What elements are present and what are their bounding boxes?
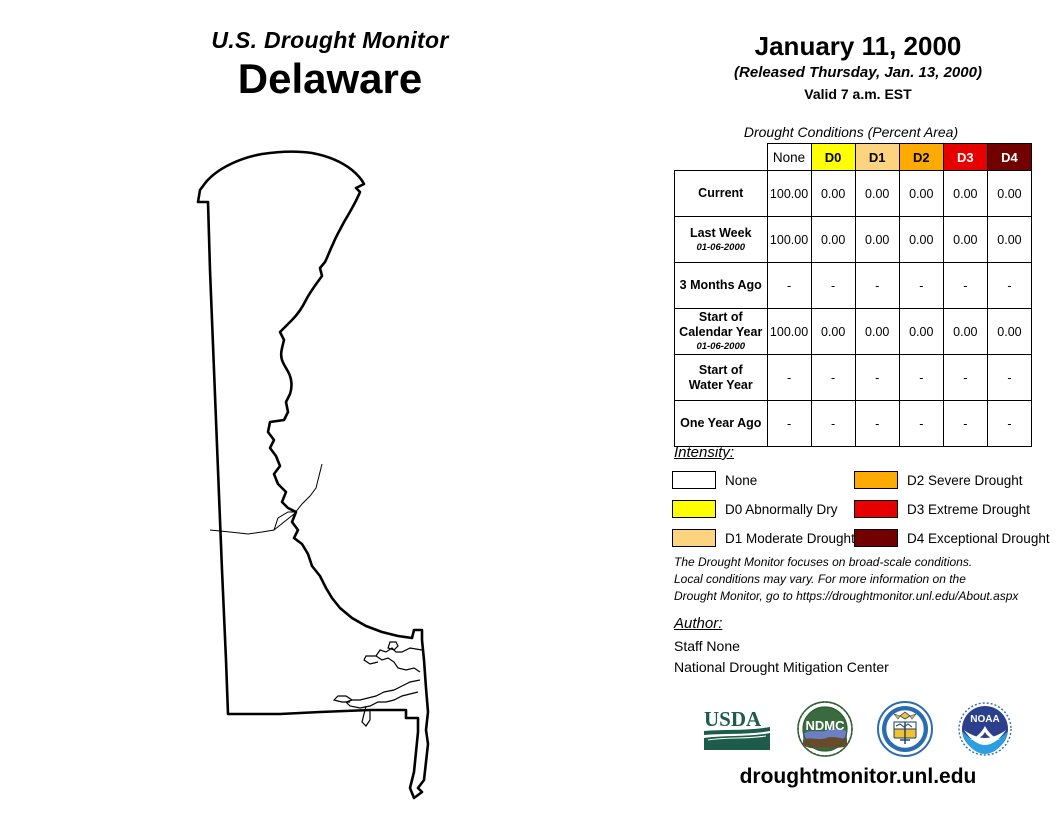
cell-one-year-d3: -: [943, 401, 987, 447]
site-url[interactable]: droughtmonitor.unl.edu: [660, 765, 1056, 789]
legend-label-d1: D1 Moderate Drought: [725, 531, 855, 546]
info-panel: January 11, 2000 (Released Thursday, Jan…: [660, 0, 1056, 816]
disclaimer-line-1: The Drought Monitor focuses on broad-sca…: [674, 554, 1054, 571]
cell-cal-year-d1: 0.00: [855, 309, 899, 355]
row-label-line2: Calendar Year: [679, 325, 762, 339]
intensity-heading: Intensity:: [674, 444, 734, 461]
legend-item-d0: D0 Abnormally Dry: [672, 497, 855, 521]
swatch-none-icon: [672, 471, 716, 489]
cell-water-year-d1: -: [855, 355, 899, 401]
cell-last-week-d2: 0.00: [899, 217, 943, 263]
delaware-map-svg: [170, 140, 500, 800]
release-date: (Released Thursday, Jan. 13, 2000): [660, 62, 1056, 85]
cell-3-months-d4: -: [987, 263, 1031, 309]
legend-item-d4: D4 Exceptional Drought: [854, 526, 1050, 550]
cell-3-months-d3: -: [943, 263, 987, 309]
legend-item-d2: D2 Severe Drought: [854, 468, 1050, 492]
legend-label-d2: D2 Severe Drought: [907, 473, 1023, 488]
cell-current-d2: 0.00: [899, 171, 943, 217]
swatch-d1-icon: [672, 529, 716, 547]
map-panel: U.S. Drought Monitor Delaware: [0, 0, 660, 816]
cell-cal-year-none: 100.00: [767, 309, 811, 355]
cell-one-year-d2: -: [899, 401, 943, 447]
drought-conditions-table: None D0 D1 D2 D3 D4 Current 100.00 0.00 …: [674, 143, 1032, 447]
row-label-date: 01-06-2000: [675, 341, 767, 352]
cell-cal-year-d2: 0.00: [899, 309, 943, 355]
swatch-d0-icon: [672, 500, 716, 518]
row-label-start-calendar-year: Start of Calendar Year 01-06-2000: [675, 309, 768, 355]
logo-row: USDA NDMC: [660, 694, 1056, 764]
cell-cal-year-d3: 0.00: [943, 309, 987, 355]
row-label-current: Current: [675, 171, 768, 217]
table-row: One Year Ago - - - - - -: [675, 401, 1032, 447]
header-cell-d4: D4: [987, 144, 1031, 171]
disclaimer: The Drought Monitor focuses on broad-sca…: [674, 554, 1054, 605]
swatch-d2-icon: [854, 471, 898, 489]
cell-one-year-d4: -: [987, 401, 1031, 447]
row-label-text: Last Week: [690, 226, 752, 240]
cell-last-week-d0: 0.00: [811, 217, 855, 263]
date-block: January 11, 2000 (Released Thursday, Jan…: [660, 32, 1056, 105]
swatch-d4-icon: [854, 529, 898, 547]
cell-last-week-d1: 0.00: [855, 217, 899, 263]
header-cell-d2: D2: [899, 144, 943, 171]
disclaimer-line-2: Local conditions may vary. For more info…: [674, 571, 1054, 588]
row-label-text: 3 Months Ago: [680, 278, 762, 292]
noaa-logo: NOAA: [956, 700, 1014, 758]
cell-3-months-d0: -: [811, 263, 855, 309]
legend-label-d4: D4 Exceptional Drought: [907, 531, 1050, 546]
legend-item-d1: D1 Moderate Drought: [672, 526, 855, 550]
cell-one-year-d0: -: [811, 401, 855, 447]
valid-time: Valid 7 a.m. EST: [660, 84, 1056, 104]
row-label-line2: Water Year: [689, 378, 753, 392]
cell-last-week-none: 100.00: [767, 217, 811, 263]
issue-date: January 11, 2000: [660, 32, 1056, 62]
table-caption: Drought Conditions (Percent Area): [660, 124, 1042, 140]
header-cell-none: None: [767, 144, 811, 171]
cell-3-months-d1: -: [855, 263, 899, 309]
cell-current-none: 100.00: [767, 171, 811, 217]
ndmc-logo: NDMC: [796, 700, 854, 758]
header-cell-d1: D1: [855, 144, 899, 171]
author-name: Staff None: [674, 636, 889, 657]
cell-one-year-d1: -: [855, 401, 899, 447]
cell-water-year-none: -: [767, 355, 811, 401]
usda-logo: USDA: [702, 705, 774, 753]
cell-3-months-d2: -: [899, 263, 943, 309]
cell-one-year-none: -: [767, 401, 811, 447]
row-label-start-water-year: Start of Water Year: [675, 355, 768, 401]
delaware-map[interactable]: [170, 140, 500, 800]
row-label-line1: Start of: [699, 363, 743, 377]
row-label-text: Current: [698, 186, 743, 200]
row-label-3-months-ago: 3 Months Ago: [675, 263, 768, 309]
table-row: 3 Months Ago - - - - - -: [675, 263, 1032, 309]
svg-text:NOAA: NOAA: [970, 714, 999, 725]
cell-water-year-d2: -: [899, 355, 943, 401]
legend-column-left: None D0 Abnormally Dry D1 Moderate Droug…: [672, 468, 855, 555]
legend-label-d0: D0 Abnormally Dry: [725, 502, 838, 517]
state-title: Delaware: [0, 55, 660, 102]
title-block: U.S. Drought Monitor Delaware: [0, 28, 660, 102]
cell-cal-year-d0: 0.00: [811, 309, 855, 355]
row-label-date: 01-06-2000: [675, 242, 767, 253]
cell-cal-year-d4: 0.00: [987, 309, 1031, 355]
row-label-one-year-ago: One Year Ago: [675, 401, 768, 447]
state-boundary: [198, 152, 428, 798]
author-organization: National Drought Mitigation Center: [674, 657, 889, 678]
cell-water-year-d0: -: [811, 355, 855, 401]
table-row: Start of Water Year - - - - - -: [675, 355, 1032, 401]
table-header-row: None D0 D1 D2 D3 D4: [675, 144, 1032, 171]
table-row: Last Week 01-06-2000 100.00 0.00 0.00 0.…: [675, 217, 1032, 263]
legend-label-none: None: [725, 473, 757, 488]
table-row: Current 100.00 0.00 0.00 0.00 0.00 0.00: [675, 171, 1032, 217]
row-label-last-week: Last Week 01-06-2000: [675, 217, 768, 263]
cell-last-week-d3: 0.00: [943, 217, 987, 263]
author-block: Staff None National Drought Mitigation C…: [674, 636, 889, 678]
swatch-d3-icon: [854, 500, 898, 518]
program-title: U.S. Drought Monitor: [0, 28, 660, 52]
cell-water-year-d3: -: [943, 355, 987, 401]
svg-text:NDMC: NDMC: [806, 718, 846, 733]
header-cell-d0: D0: [811, 144, 855, 171]
cell-current-d0: 0.00: [811, 171, 855, 217]
usdc-seal-logo: [876, 700, 934, 758]
table-row: Start of Calendar Year 01-06-2000 100.00…: [675, 309, 1032, 355]
disclaimer-line-3[interactable]: Drought Monitor, go to https://droughtmo…: [674, 588, 1054, 605]
legend-label-d3: D3 Extreme Drought: [907, 502, 1030, 517]
legend-item-d3: D3 Extreme Drought: [854, 497, 1050, 521]
row-label-line1: Start of: [699, 310, 743, 324]
header-cell-d3: D3: [943, 144, 987, 171]
row-label-text: One Year Ago: [680, 416, 761, 430]
svg-text:USDA: USDA: [704, 707, 762, 731]
author-heading: Author:: [674, 615, 722, 632]
cell-3-months-none: -: [767, 263, 811, 309]
legend-item-none: None: [672, 468, 855, 492]
header-cell-blank: [675, 144, 768, 171]
cell-current-d3: 0.00: [943, 171, 987, 217]
cell-water-year-d4: -: [987, 355, 1031, 401]
cell-current-d4: 0.00: [987, 171, 1031, 217]
legend-column-right: D2 Severe Drought D3 Extreme Drought D4 …: [854, 468, 1050, 555]
cell-last-week-d4: 0.00: [987, 217, 1031, 263]
cell-current-d1: 0.00: [855, 171, 899, 217]
